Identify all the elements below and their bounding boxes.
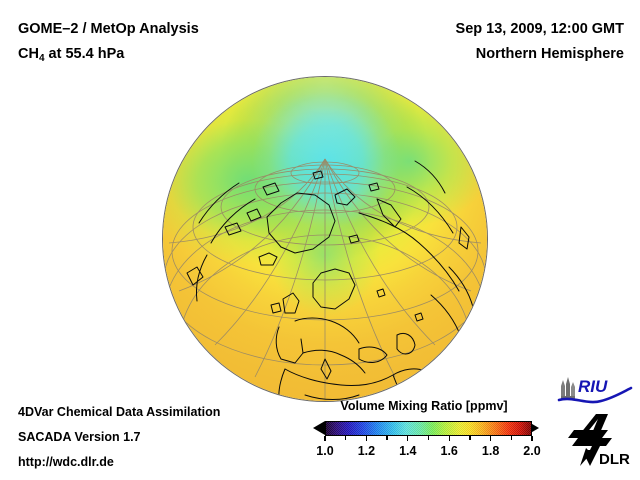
coastlines [163, 77, 487, 401]
colorbar-minor-tick [428, 436, 429, 440]
colorbar-tick-label: 1.2 [358, 444, 375, 458]
colorbar-tick-label: 2.0 [523, 444, 540, 458]
header-right: Sep 13, 2009, 12:00 GMT Northern Hemisph… [456, 17, 624, 67]
colorbar-tick [531, 436, 532, 441]
colorbar-minor-tick [511, 436, 512, 440]
figure-canvas: GOME–2 / MetOp Analysis CH4 at 55.4 hPa … [0, 0, 640, 480]
instrument-title: GOME–2 / MetOp Analysis [18, 17, 199, 42]
colorbar-ticks [325, 436, 532, 441]
globe-plot [163, 77, 487, 401]
colorbar-tick [407, 436, 408, 441]
colorbar-dither-texture [326, 422, 531, 435]
colorbar-extend-low-arrow [313, 421, 325, 435]
colorbar-tick-labels: 1.01.21.41.61.82.0 [306, 444, 546, 462]
colorbar-tick [366, 436, 367, 441]
datetime-label: Sep 13, 2009, 12:00 GMT [456, 17, 624, 42]
colorbar-minor-tick [345, 436, 346, 440]
colorbar: Volume Mixing Ratio [ppmv] 1.01.21.41.61… [306, 399, 546, 462]
colorbar-tick [449, 436, 450, 441]
region-label: Northern Hemisphere [456, 42, 624, 67]
species-level-title: CH4 at 55.4 hPa [18, 42, 199, 71]
colorbar-tick-label: 1.8 [482, 444, 499, 458]
cathedral-towers-icon [561, 377, 575, 399]
dlr-wordmark: DLR [599, 451, 630, 468]
data-centre-url[interactable]: http://wdc.dlr.de [18, 450, 220, 475]
colorbar-tick-label: 1.0 [316, 444, 333, 458]
colorbar-minor-tick [469, 436, 470, 440]
colorbar-gradient [325, 421, 532, 436]
riu-logo: RIU [557, 372, 633, 404]
footer-metadata: 4DVar Chemical Data Assimilation SACADA … [18, 400, 220, 475]
colorbar-tick [490, 436, 491, 441]
dlr-logo: DLR [566, 412, 632, 468]
colorbar-minor-tick [386, 436, 387, 440]
species-label: CH [18, 46, 39, 62]
colorbar-bar-row [306, 419, 546, 441]
version-label: SACADA Version 1.7 [18, 425, 220, 450]
header-left: GOME–2 / MetOp Analysis CH4 at 55.4 hPa [18, 17, 199, 71]
riu-wordmark: RIU [578, 377, 608, 396]
colorbar-title: Volume Mixing Ratio [ppmv] [308, 399, 540, 413]
colorbar-tick [324, 436, 325, 441]
method-label: 4DVar Chemical Data Assimilation [18, 400, 220, 425]
pressure-level-label: at 55.4 hPa [45, 46, 125, 62]
colorbar-tick-label: 1.6 [440, 444, 457, 458]
globe-disc [163, 77, 487, 401]
colorbar-tick-label: 1.4 [399, 444, 416, 458]
